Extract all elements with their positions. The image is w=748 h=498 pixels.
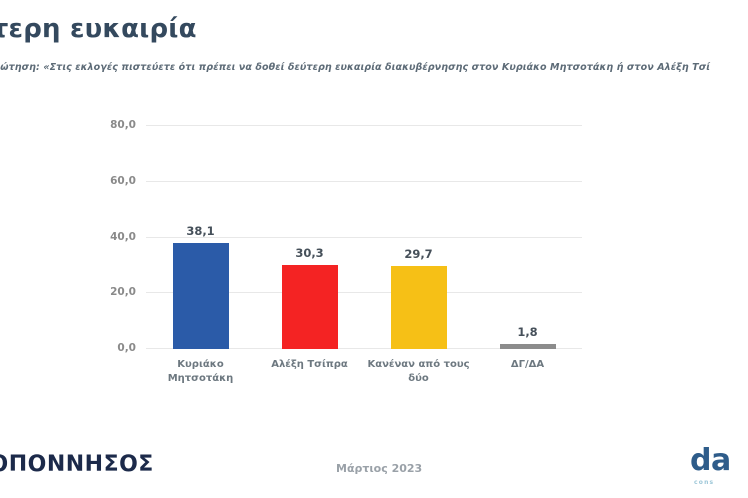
footer-date: Μάρτιος 2023 <box>336 462 422 475</box>
bar[interactable]: 38,1Κυριάκο Μητσοτάκη <box>173 243 229 349</box>
bar[interactable]: 30,3Αλέξη Τσίπρα <box>282 265 338 349</box>
y-axis-tick-label: 20,0 <box>110 286 136 298</box>
bar-value-label: 29,7 <box>404 247 432 261</box>
y-axis-tick-label: 40,0 <box>110 231 136 243</box>
bar-value-label: 38,1 <box>186 224 214 238</box>
x-axis-tick-label: Κανέναν από τους δύο <box>364 358 474 385</box>
brand-logo-left: ΛΟΠΟΝΝΗΣΟΣ <box>0 452 154 477</box>
y-axis-tick-label: 0,0 <box>117 342 136 354</box>
bar-value-label: 1,8 <box>517 325 537 339</box>
brand-logo-right: da cons <box>690 446 748 486</box>
x-axis-tick-label: ΔΓ/ΔΑ <box>473 358 583 372</box>
bar-value-label: 30,3 <box>295 246 323 260</box>
y-axis-tick-label: 80,0 <box>110 119 136 131</box>
page-title: ύτερη ευκαιρία <box>0 14 197 44</box>
plot-area: 80,060,040,020,00,0 38,1Κυριάκο Μητσοτάκ… <box>146 126 582 349</box>
gridline: 60,0 <box>146 181 582 182</box>
slide-footer: ΛΟΠΟΝΝΗΣΟΣ Μάρτιος 2023 da cons <box>0 432 748 498</box>
brand-logo-right-subtitle: cons <box>694 479 748 486</box>
brand-logo-right-word: da <box>690 446 748 476</box>
x-axis-tick-label: Κυριάκο Μητσοτάκη <box>146 358 256 385</box>
bar[interactable]: 29,7Κανέναν από τους δύο <box>391 266 447 349</box>
bar-chart: 80,060,040,020,00,0 38,1Κυριάκο Μητσοτάκ… <box>0 100 748 410</box>
bar[interactable]: 1,8ΔΓ/ΔΑ <box>500 344 556 349</box>
page-subtitle: ν ερώτηση: «Στις εκλογές πιστεύετε ότι π… <box>0 62 710 73</box>
gridline: 80,0 <box>146 125 582 126</box>
y-axis-tick-label: 60,0 <box>110 175 136 187</box>
x-axis-tick-label: Αλέξη Τσίπρα <box>255 358 365 372</box>
